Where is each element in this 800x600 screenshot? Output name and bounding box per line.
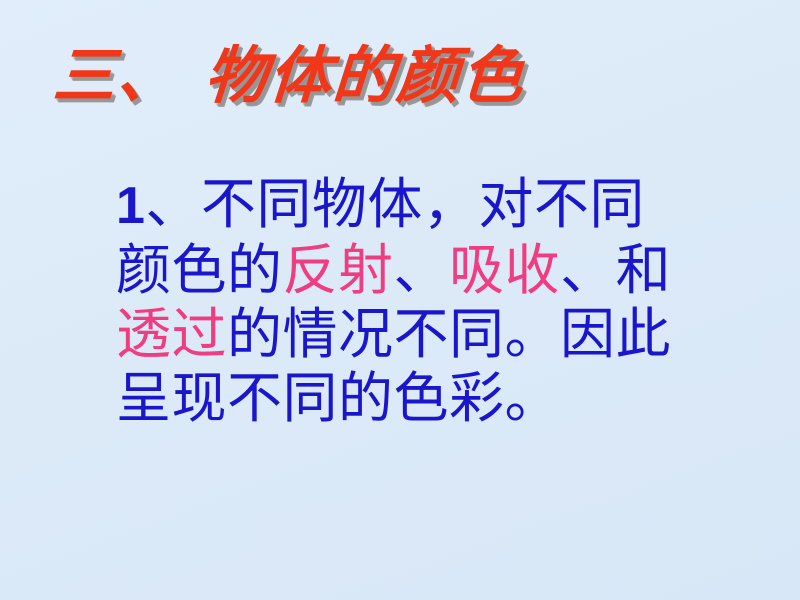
- highlighted-term: 透过: [116, 302, 227, 366]
- body-text-line: 1、不同物体，对不同: [116, 172, 724, 238]
- body-text-segment: 颜色的: [116, 238, 283, 302]
- body-text-segment: 、不同物体，对不同: [145, 172, 645, 236]
- title-block: 三、 物体的颜色: [50, 28, 750, 123]
- list-number: 1: [116, 177, 145, 235]
- page-title: 三、 物体的颜色: [50, 28, 757, 123]
- body-text-segment: 呈现不同的色彩。: [116, 366, 560, 430]
- highlighted-term: 反射: [283, 238, 394, 302]
- body-text-block: 1、不同物体，对不同颜色的反射、吸收、和透过的情况不同。因此呈现不同的色彩。: [116, 172, 724, 430]
- presentation-slide: 三、 物体的颜色 1、不同物体，对不同颜色的反射、吸收、和透过的情况不同。因此呈…: [0, 0, 800, 600]
- body-text-segment: 、和: [560, 238, 671, 302]
- body-text-segment: 的情况不同。因此: [227, 302, 671, 366]
- body-text-segment: 、: [394, 238, 450, 302]
- body-text-line: 颜色的反射、吸收、和: [116, 238, 724, 302]
- highlighted-term: 吸收: [449, 238, 560, 302]
- body-text-line: 透过的情况不同。因此: [116, 302, 724, 366]
- body-text-line: 呈现不同的色彩。: [116, 366, 724, 430]
